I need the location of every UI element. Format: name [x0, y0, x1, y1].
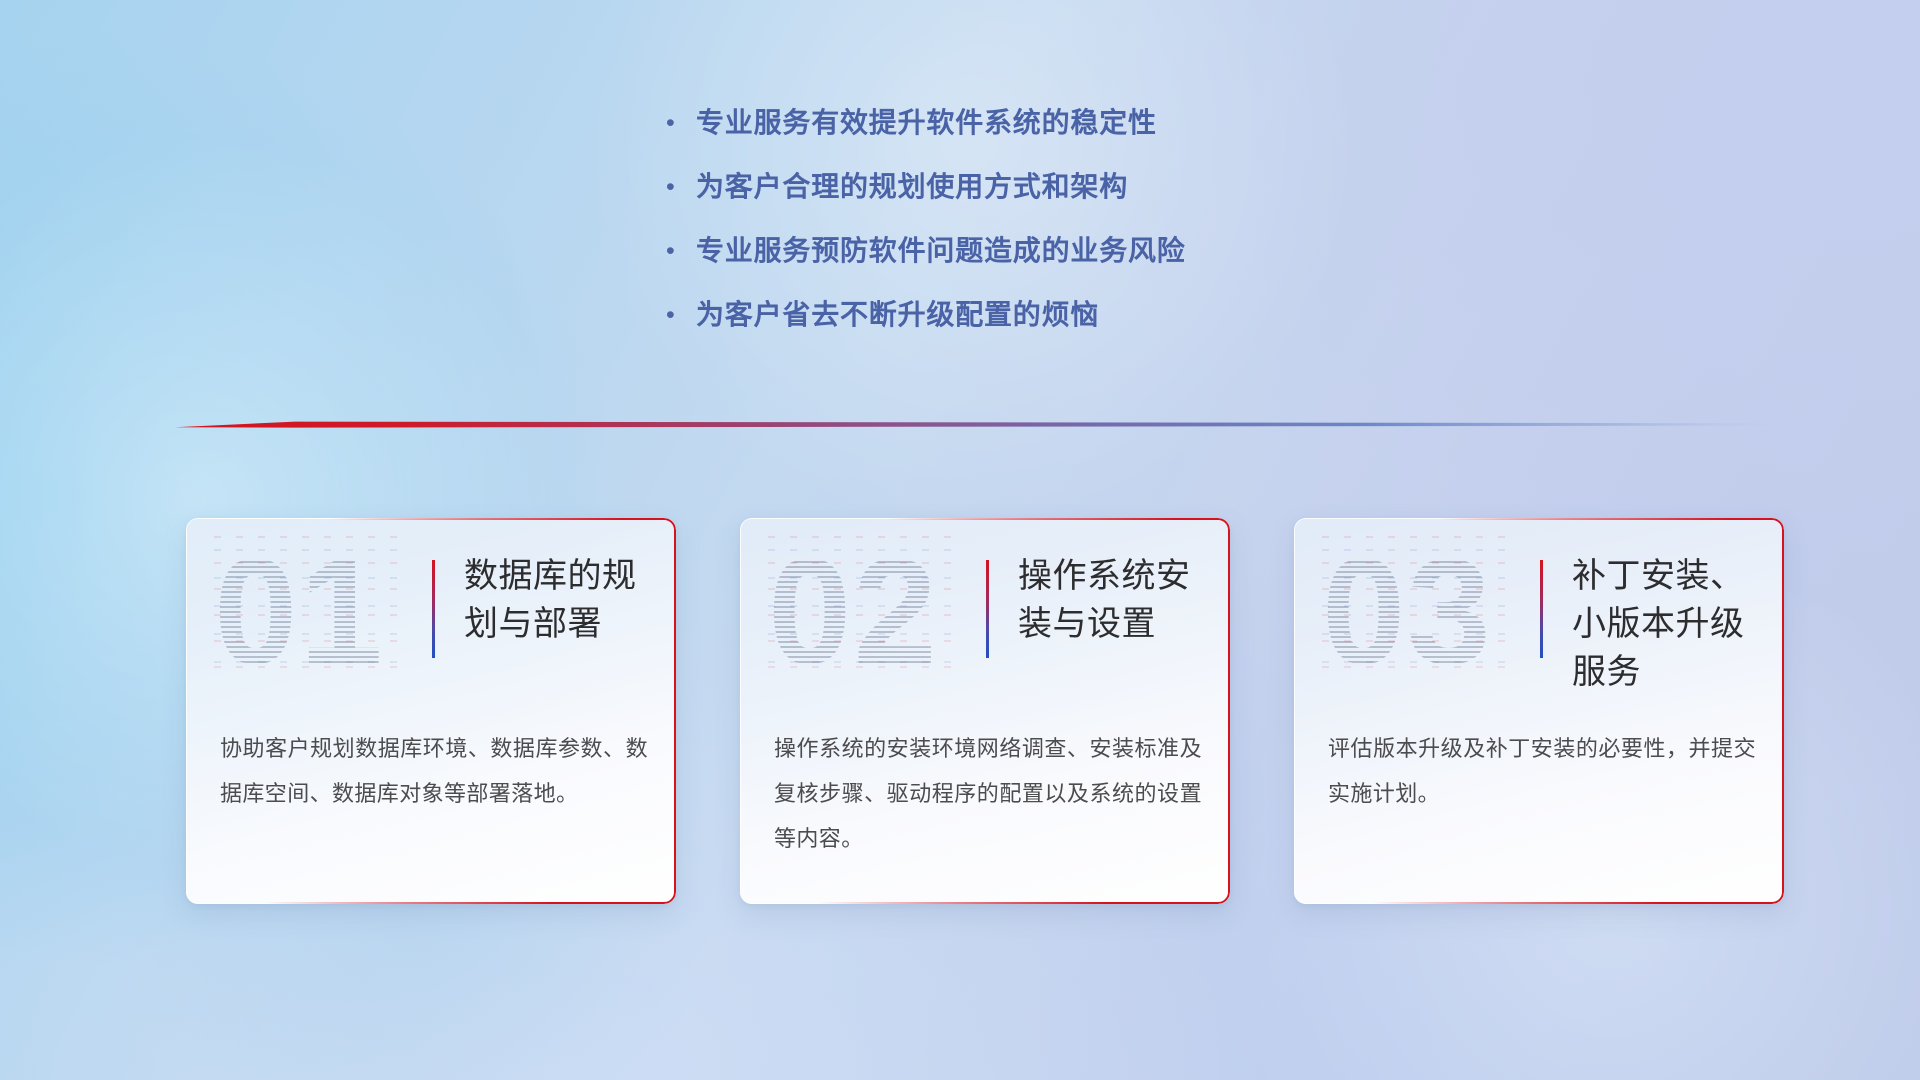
card-body-text: 操作系统的安装环境网络调查、安装标准及复核步骤、驱动程序的配置以及系统的设置等内…: [774, 726, 1202, 861]
bullet-marker-icon: •: [666, 104, 696, 142]
bullet-text: 专业服务预防软件问题造成的业务风险: [696, 232, 1186, 270]
bullet-marker-icon: •: [666, 296, 696, 334]
bullet-text: 为客户省去不断升级配置的烦恼: [696, 296, 1099, 334]
card-number: 01: [214, 536, 410, 686]
card-number: 03: [1322, 536, 1518, 686]
card-body-text: 评估版本升级及补丁安装的必要性，并提交实施计划。: [1328, 726, 1756, 816]
section-divider: [175, 418, 1775, 432]
card-title: 补丁安装、小版本升级服务: [1572, 552, 1768, 696]
card-title: 数据库的规划与部署: [464, 552, 660, 648]
benefits-bullet-list: • 专业服务有效提升软件系统的稳定性 • 为客户合理的规划使用方式和架构 • 专…: [666, 104, 1486, 360]
list-item: • 专业服务预防软件问题造成的业务风险: [666, 232, 1486, 296]
card-number: 02: [768, 536, 964, 686]
card-body-text: 协助客户规划数据库环境、数据库参数、数据库空间、数据库对象等部署落地。: [220, 726, 648, 816]
card-divider-rule: [1540, 560, 1543, 658]
bullet-text: 专业服务有效提升软件系统的稳定性: [696, 104, 1157, 142]
service-card[interactable]: 03 补丁安装、小版本升级服务 评估版本升级及补丁安装的必要性，并提交实施计划。: [1294, 518, 1784, 904]
card-title: 操作系统安装与设置: [1018, 552, 1214, 648]
card-divider-rule: [432, 560, 435, 658]
service-card[interactable]: 02 操作系统安装与设置 操作系统的安装环境网络调查、安装标准及复核步骤、驱动程…: [740, 518, 1230, 904]
bullet-marker-icon: •: [666, 232, 696, 270]
bullet-marker-icon: •: [666, 168, 696, 206]
bullet-text: 为客户合理的规划使用方式和架构: [696, 168, 1128, 206]
list-item: • 专业服务有效提升软件系统的稳定性: [666, 104, 1486, 168]
service-card-group: 01 数据库的规划与部署 协助客户规划数据库环境、数据库参数、数据库空间、数据库…: [186, 518, 1784, 906]
card-divider-rule: [986, 560, 989, 658]
list-item: • 为客户省去不断升级配置的烦恼: [666, 296, 1486, 360]
slide-root: • 专业服务有效提升软件系统的稳定性 • 为客户合理的规划使用方式和架构 • 专…: [0, 0, 1920, 1080]
service-card[interactable]: 01 数据库的规划与部署 协助客户规划数据库环境、数据库参数、数据库空间、数据库…: [186, 518, 676, 904]
list-item: • 为客户合理的规划使用方式和架构: [666, 168, 1486, 232]
